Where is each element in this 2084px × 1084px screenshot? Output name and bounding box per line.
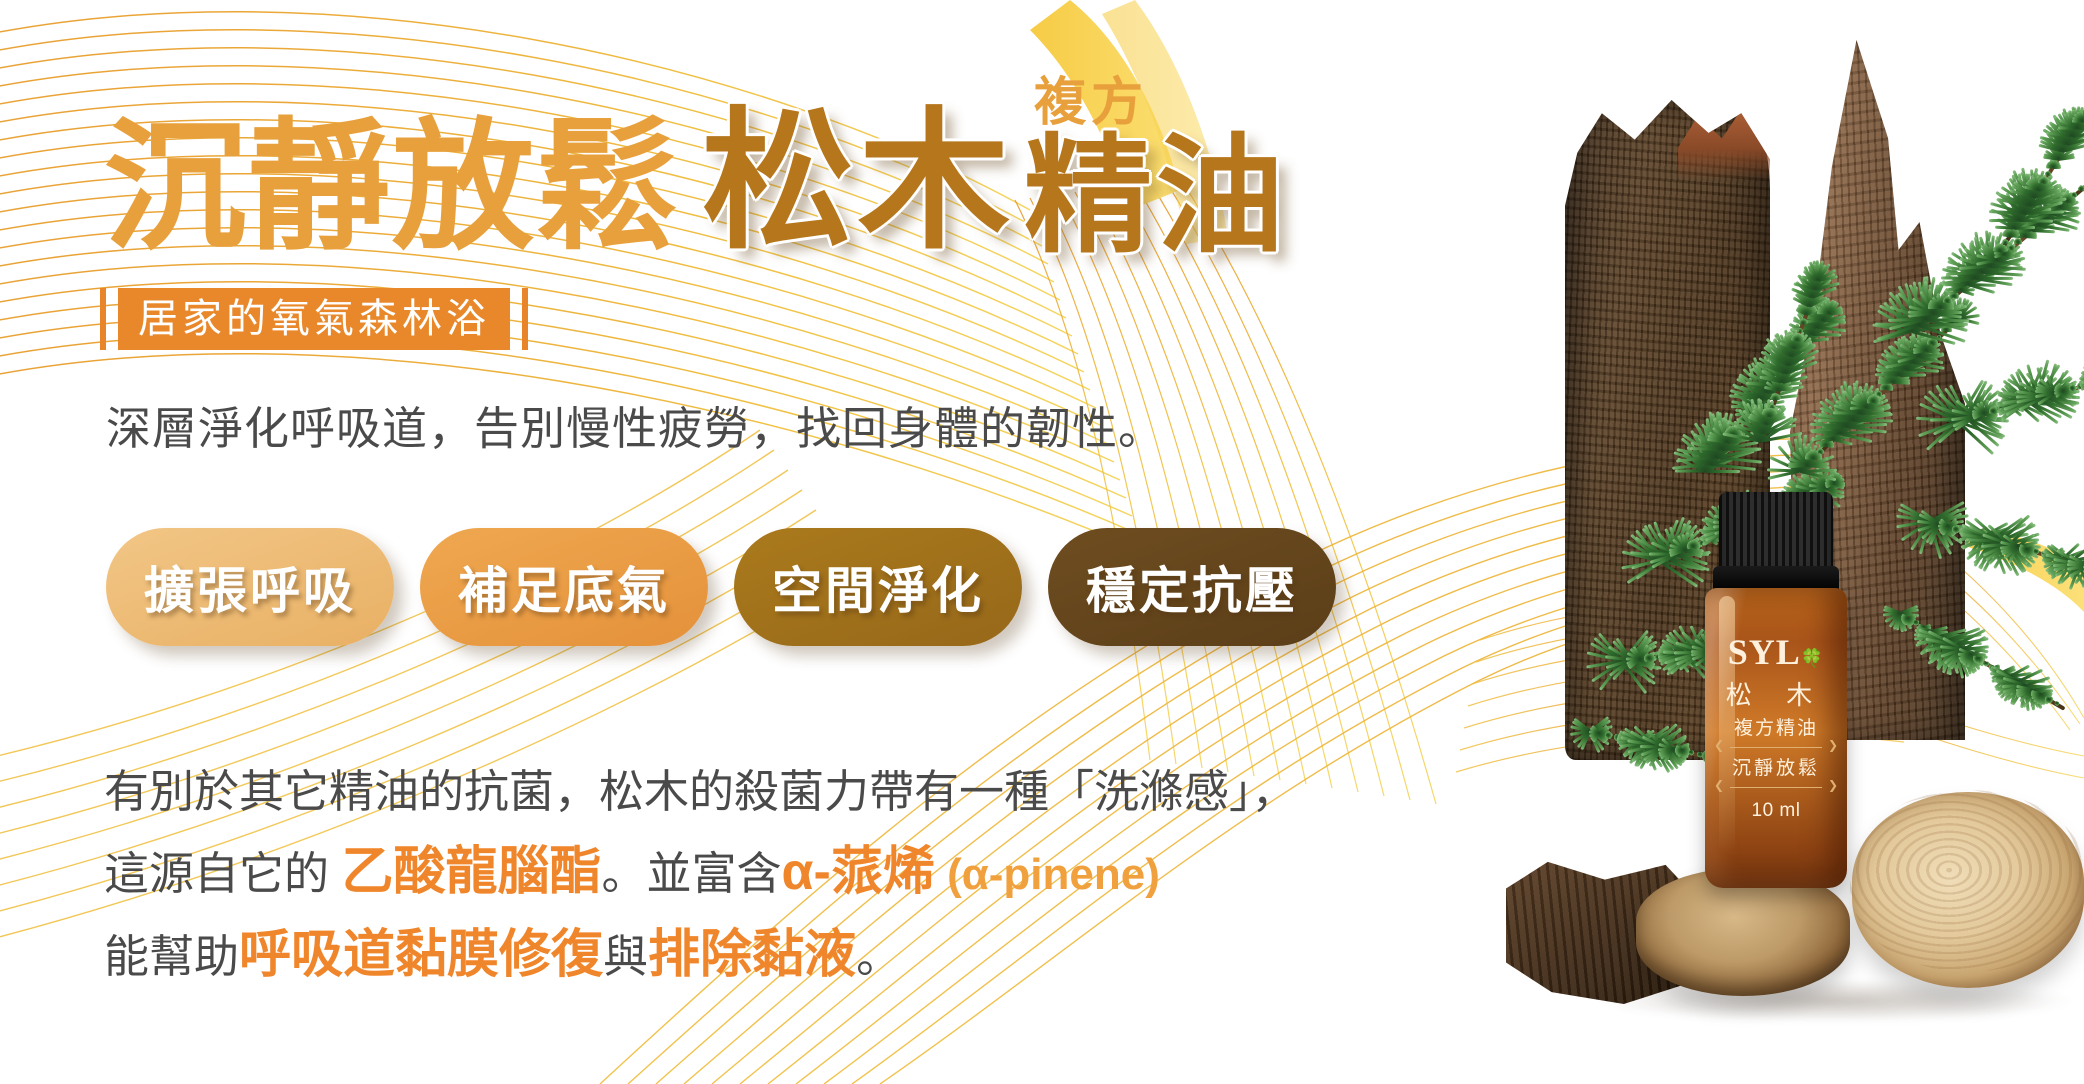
essential-oil-bottle[interactable]: SYL🍀 松 木 複方精油 沉靜放鬆 10 ml: [1697, 492, 1855, 900]
brand-logo-text: SYL: [1728, 632, 1801, 672]
desc2-mid: 。並富含: [602, 848, 782, 899]
benefit-pill[interactable]: 穩定抗壓: [1048, 528, 1336, 646]
pine-twig: [1911, 183, 2084, 334]
benefit-pill[interactable]: 擴張呼吸: [106, 528, 394, 646]
label-divider-top: [1730, 747, 1822, 748]
description-line-2: 這源自它的 乙酸龍腦酯。並富含α-蒎烯 (α-pinene): [104, 832, 1297, 915]
benefit-pill-label: 擴張呼吸: [144, 551, 356, 623]
bottle-product-type: 複方精油: [1705, 713, 1847, 740]
pine-twig: [1998, 90, 2084, 253]
benefit-pill-row: 擴張呼吸補足底氣空間淨化穩定抗壓: [106, 528, 1336, 646]
benefit-pill-label: 空間淨化: [772, 551, 984, 623]
desc2-highlight-alpha-pinene-latin: (α-pinene): [935, 850, 1160, 899]
headline-main: 沉靜放鬆: [104, 117, 680, 259]
desc2-highlight-alpha-pinene: α-蒎烯: [782, 843, 935, 901]
headline-product-type: 精油: [1024, 136, 1288, 259]
product-ground-shadow: [1600, 980, 2070, 1022]
bottle-volume: 10 ml: [1705, 800, 1847, 822]
pine-twig: [1929, 520, 2084, 584]
headline-group: 沉靜放鬆 松木 複方 精油: [104, 78, 1288, 259]
desc3-highlight-mucus-clearing: 排除黏液: [648, 926, 856, 984]
wood-log-slice-large: [1852, 792, 2084, 988]
bottle-claim: 沉靜放鬆: [1705, 753, 1847, 780]
tagline-badge: 居家的氧氣森林浴: [100, 288, 528, 350]
description-line-3: 能幫助呼吸道黏膜修復與排除黏液。: [104, 915, 1297, 997]
bottle-label: SYL🍀 松 木 複方精油 沉靜放鬆 10 ml: [1705, 634, 1847, 822]
label-divider-bottom: [1730, 787, 1822, 788]
badge-label: 居家的氧氣森林浴: [118, 288, 510, 350]
benefit-pill-label: 補足底氣: [458, 551, 670, 623]
banner-copy: 沉靜放鬆 松木 複方 精油 居家的氧氣森林浴 深層淨化呼吸道，告別慢性疲勞，找回…: [0, 0, 1560, 1084]
pine-twig: [1758, 272, 1823, 443]
desc2-highlight-bornyl-acetate: 乙酸龍腦酯: [342, 843, 602, 901]
desc3-mid: 與: [603, 931, 648, 982]
pine-twig: [1957, 362, 2084, 424]
benefit-pill[interactable]: 空間淨化: [734, 528, 1022, 646]
description-line-1: 有別於其它精油的抗菌，松木的殺菌力帶有一種「洗滌感」，: [104, 752, 1297, 832]
badge-accent-bar-right: [522, 288, 528, 350]
desc3-post: 。: [856, 931, 901, 982]
lead-paragraph: 深層淨化呼吸道，告別慢性疲勞，找回身體的韌性。: [106, 392, 1164, 457]
brand-logo: SYL🍀: [1705, 634, 1847, 670]
bottle-product-name: 松 木: [1705, 682, 1847, 711]
leaf-icon: 🍀: [1801, 648, 1824, 668]
pine-twig: [1703, 305, 1835, 473]
bottle-body: SYL🍀 松 木 複方精油 沉靜放鬆 10 ml: [1705, 588, 1847, 888]
desc3-highlight-mucosa-repair: 呼吸道黏膜修復: [239, 926, 603, 984]
description-block: 有別於其它精油的抗菌，松木的殺菌力帶有一種「洗滌感」， 這源自它的 乙酸龍腦酯。…: [104, 752, 1297, 997]
benefit-pill[interactable]: 補足底氣: [420, 528, 708, 646]
desc2-pre: 這源自它的: [104, 848, 342, 899]
headline-secondary-group: 複方 精油: [1024, 78, 1288, 259]
pine-twig: [1899, 612, 2066, 710]
headline-formula-tag: 複方: [1034, 78, 1148, 130]
badge-accent-bar-left: [100, 288, 106, 350]
benefit-pill-label: 穩定抗壓: [1086, 551, 1298, 623]
pine-twig: [1799, 311, 1967, 474]
product-banner: SYL🍀 松 木 複方精油 沉靜放鬆 10 ml 沉靜放鬆 松木 複方 精油 居…: [0, 0, 2084, 1084]
desc3-pre: 能幫助: [104, 931, 239, 982]
headline-product: 松木: [702, 107, 1014, 259]
